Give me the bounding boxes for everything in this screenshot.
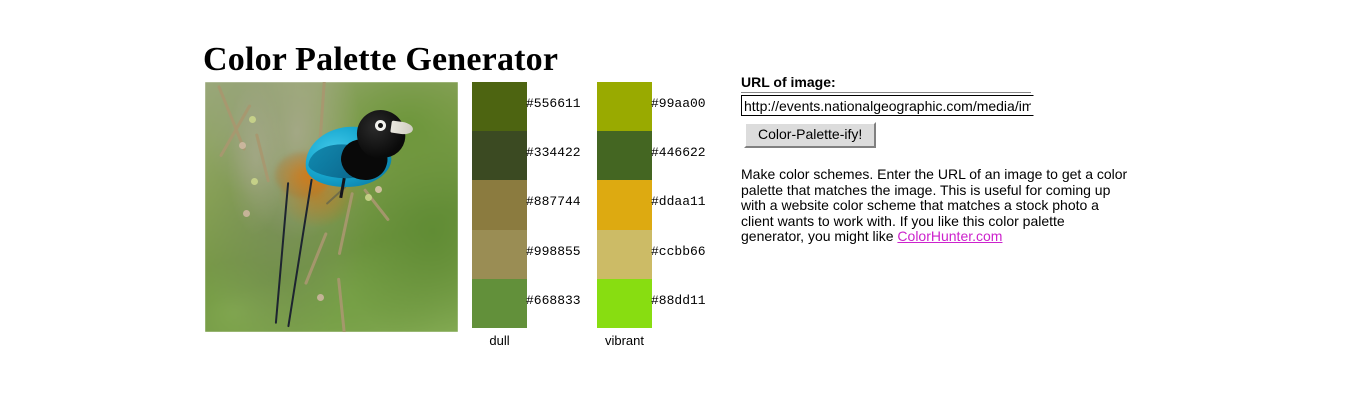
swatch-hex-label: #998855 <box>526 244 581 260</box>
color-swatch[interactable] <box>597 230 652 279</box>
palette-label-dull: dull <box>472 332 527 349</box>
color-swatch[interactable] <box>472 82 527 131</box>
url-form: URL of image: Color-Palette-ify! Make co… <box>741 74 1141 245</box>
source-image <box>205 82 458 332</box>
swatch-hex-label: #668833 <box>526 293 581 309</box>
swatch-hex-label: #556611 <box>526 96 581 112</box>
swatch-row: #99aa00 <box>597 82 747 131</box>
swatch-row: #ccbb66 <box>597 230 747 279</box>
description-text: Make color schemes. Enter the URL of an … <box>741 167 1129 245</box>
swatch-hex-label: #ddaa11 <box>651 194 706 210</box>
swatch-hex-label: #887744 <box>526 194 581 210</box>
color-palette-ify-button[interactable]: Color-Palette-ify! <box>744 122 876 148</box>
swatch-hex-label: #334422 <box>526 145 581 161</box>
bird-eye <box>375 120 386 131</box>
color-swatch[interactable] <box>597 279 652 328</box>
bud-icon <box>251 178 258 185</box>
swatch-hex-label: #446622 <box>651 145 706 161</box>
swatch-row: #88dd11 <box>597 279 747 328</box>
swatch-hex-label: #99aa00 <box>651 96 706 112</box>
palette-label-vibrant: vibrant <box>597 332 652 349</box>
color-swatch[interactable] <box>472 230 527 279</box>
bud-icon <box>317 294 324 301</box>
color-swatch[interactable] <box>472 180 527 229</box>
url-input[interactable] <box>741 95 1034 116</box>
swatch-row: #ddaa11 <box>597 180 747 229</box>
color-swatch[interactable] <box>472 131 527 180</box>
swatch-hex-label: #88dd11 <box>651 293 706 309</box>
form-divider <box>741 92 1031 93</box>
bud-icon <box>239 142 246 149</box>
color-swatch[interactable] <box>597 82 652 131</box>
colorhunter-link[interactable]: ColorHunter.com <box>897 228 1002 244</box>
palette-vibrant: #99aa00 #446622 #ddaa11 #ccbb66 #88dd11 … <box>597 82 747 328</box>
bud-icon <box>375 186 382 193</box>
color-swatch[interactable] <box>597 180 652 229</box>
color-swatch[interactable] <box>472 279 527 328</box>
swatch-row: #446622 <box>597 131 747 180</box>
url-field-label: URL of image: <box>741 74 1141 91</box>
bud-icon <box>249 116 256 123</box>
color-swatch[interactable] <box>597 131 652 180</box>
bud-icon <box>243 210 250 217</box>
swatch-hex-label: #ccbb66 <box>651 244 706 260</box>
page-title: Color Palette Generator <box>203 40 558 80</box>
bud-icon <box>365 194 372 201</box>
